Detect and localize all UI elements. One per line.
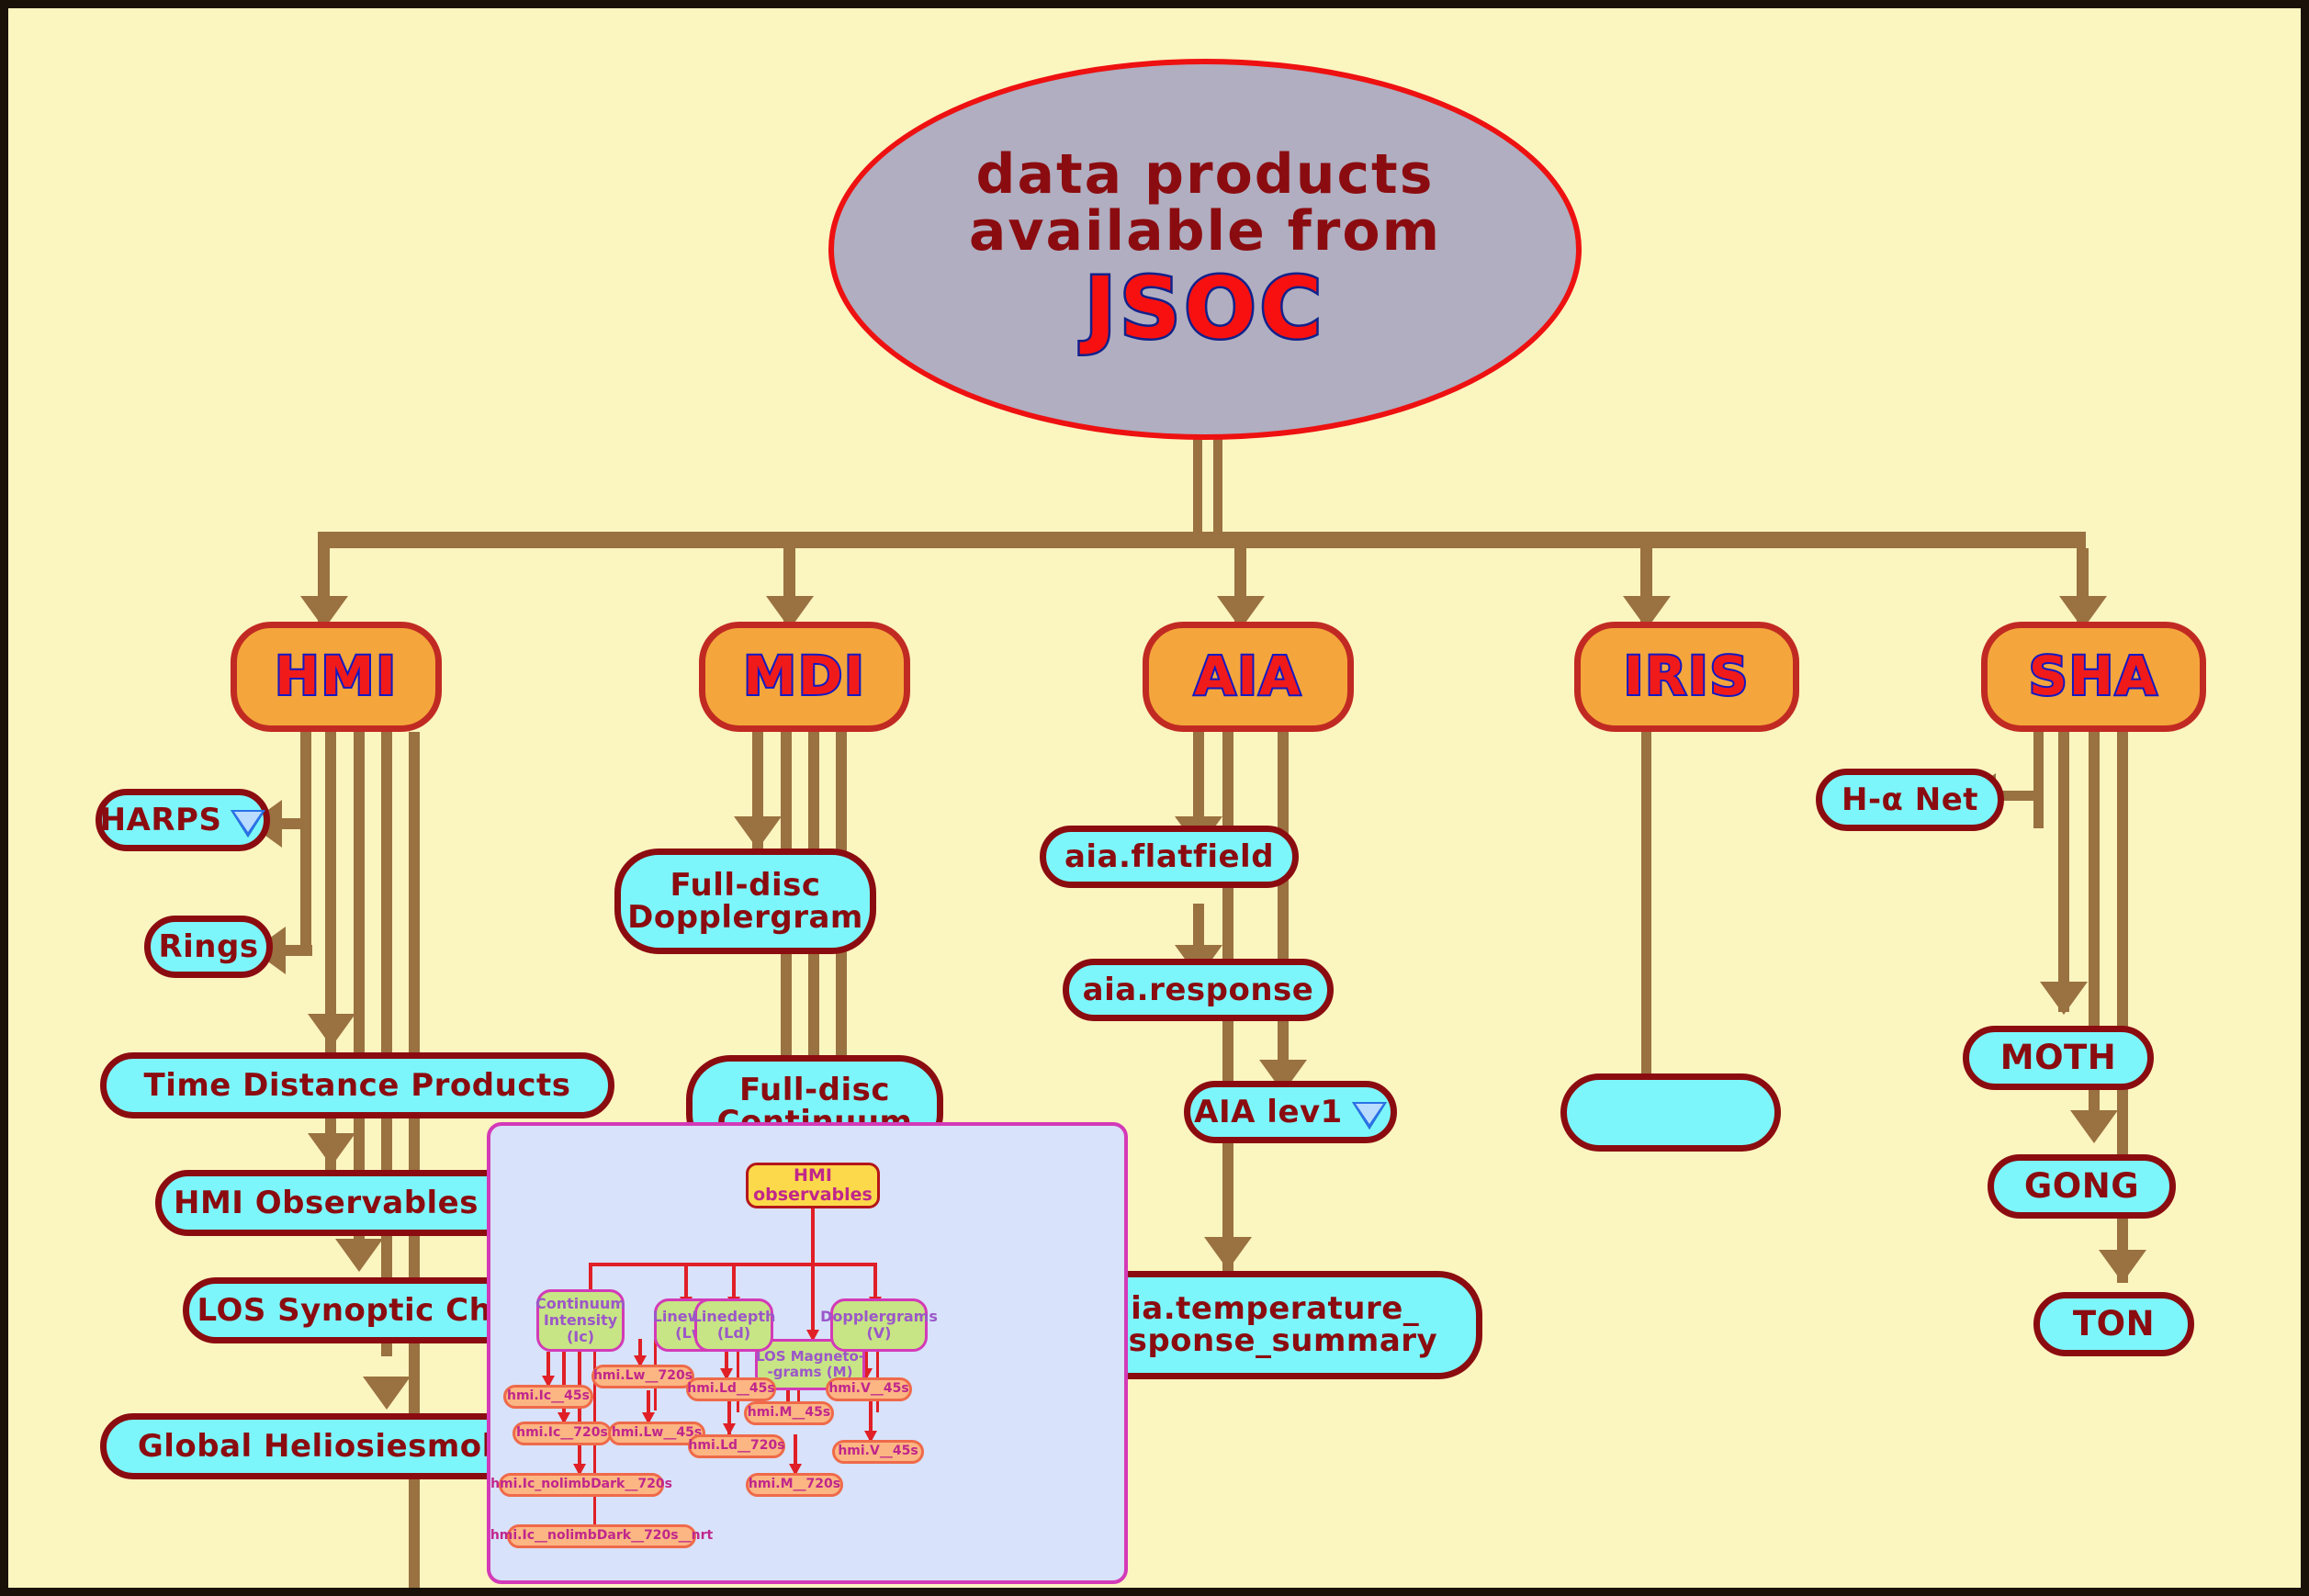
inset-series-v-45s[interactable]: hmi.V__45s [826, 1377, 912, 1401]
arrow-to-gong [2070, 1110, 2118, 1143]
inset-series-ld-45s-label: hmi.Ld__45s [687, 1382, 774, 1397]
product-aia-temperature-line2: response_summary [1091, 1325, 1437, 1357]
inset-group-v-line1: Dopplergrams [820, 1309, 938, 1325]
inset-series-ld-720s[interactable]: hmi.Ld__720s [688, 1434, 785, 1458]
root-node-jsoc[interactable]: data products available from JSOC [828, 59, 1582, 440]
root-line-1: data products [976, 147, 1435, 203]
inset-group-continuum-intensity[interactable]: Continuum Intensity (Ic) [536, 1289, 625, 1352]
product-fulldisc-dopplergram-line1: Full-disc [670, 870, 820, 902]
inset-root-stem [811, 1207, 815, 1265]
product-moth[interactable]: MOTH [1963, 1026, 2154, 1090]
product-time-distance-label: Time Distance Products [144, 1070, 571, 1102]
product-aia-response-label: aia.response [1083, 974, 1314, 1006]
product-ha-net[interactable]: H-α Net [1816, 769, 2004, 831]
instrument-iris[interactable]: IRIS [1574, 622, 1799, 732]
rail-sha-1 [2033, 732, 2044, 828]
inset-series-lw-720s[interactable]: hmi.Lw__720s [591, 1365, 694, 1388]
root-line-jsoc: JSOC [1085, 265, 1325, 352]
inset-root-hmi-observables[interactable]: HMI observables [746, 1163, 880, 1208]
inset-series-ic-nolimb-nrt-label: hmi.Ic__nolimbDark__720s__nrt [490, 1529, 713, 1544]
inset-group-ld-line2: (Ld) [717, 1325, 750, 1342]
product-aia-flatfield[interactable]: aia.flatfield [1040, 826, 1299, 888]
product-rings-label: Rings [158, 931, 258, 963]
product-rings[interactable]: Rings [144, 916, 273, 978]
inset-series-m-720s-label: hmi.M__720s [749, 1478, 840, 1492]
instrument-sha-label: SHA [2029, 649, 2158, 703]
inset-series-ic-nolimb-label: hmi.Ic_nolimbDark__720s [490, 1478, 672, 1492]
inset-series-ic-nolimbdark-720s[interactable]: hmi.Ic_nolimbDark__720s [499, 1473, 664, 1497]
arrow-to-time-distance [308, 1014, 355, 1047]
inset-series-lw-720s-label: hmi.Lw__720s [593, 1369, 693, 1384]
inset-series-m-720s[interactable]: hmi.M__720s [746, 1473, 843, 1497]
product-gong[interactable]: GONG [1988, 1154, 2176, 1219]
inset-series-ic-720s[interactable]: hmi.Ic__720s [512, 1422, 612, 1445]
product-ton-label: TON [2073, 1307, 2155, 1342]
inset-group-ic-line3: (Ic) [567, 1329, 594, 1345]
product-aia-lev1[interactable]: AIA lev1 [1184, 1081, 1397, 1143]
product-fulldisc-dopplergram[interactable]: Full-disc Dopplergram [614, 849, 876, 954]
product-ha-net-label: H-α Net [1842, 784, 1978, 816]
inset-root-line2: observables [753, 1186, 873, 1205]
inset-series-v-720s[interactable]: hmi.V__45s [832, 1440, 924, 1464]
rail-aia-3 [1278, 732, 1289, 1108]
product-harps[interactable]: HARPS [96, 789, 270, 851]
product-harps-label: HARPS [100, 804, 222, 837]
root-line-2: available from [969, 204, 1441, 260]
arrow-to-los-synoptic [335, 1239, 383, 1272]
inset-group-v-line2: (V) [866, 1325, 891, 1342]
product-iris-empty[interactable] [1560, 1073, 1781, 1152]
product-aia-flatfield-label: aia.flatfield [1064, 841, 1274, 873]
rail-aia-2 [1222, 732, 1233, 1320]
inset-series-ic-45s-label: hmi.Ic__45s [507, 1389, 590, 1404]
product-aia-lev1-label: AIA lev1 [1194, 1096, 1343, 1129]
hmi-observables-inset-panel[interactable]: s HMI observables Continuum Intensity (I… [487, 1122, 1128, 1584]
instrument-hmi[interactable]: HMI [231, 622, 442, 732]
arrow-to-ton [2099, 1250, 2146, 1283]
arrow-to-aia-temperature [1204, 1237, 1252, 1270]
product-moth-label: MOTH [2000, 1040, 2116, 1075]
inset-group-ld-line1: Linedepth [693, 1309, 776, 1325]
inset-group-linedepth[interactable]: Linedepth (Ld) [694, 1298, 773, 1352]
instrument-aia-label: AIA [1194, 649, 1301, 703]
instrument-mdi[interactable]: MDI [699, 622, 910, 732]
product-gong-label: GONG [2024, 1169, 2139, 1204]
product-fulldisc-continuum-line1: Full-disc [739, 1074, 890, 1107]
product-hmi-observables[interactable]: HMI Observables [155, 1170, 541, 1236]
instrument-sha[interactable]: SHA [1981, 622, 2206, 732]
inset-series-ld-720s-label: hmi.Ld__720s [688, 1439, 784, 1454]
inset-rail-ic-c [578, 1352, 581, 1475]
inset-series-v-45s-label: hmi.V__45s [828, 1382, 908, 1397]
product-time-distance[interactable]: Time Distance Products [100, 1052, 614, 1118]
instrument-mdi-label: MDI [743, 649, 865, 703]
product-hmi-observables-label: HMI Observables [174, 1187, 479, 1219]
inset-series-ic-nolimbdark-720s-nrt[interactable]: hmi.Ic__nolimbDark__720s__nrt [507, 1524, 696, 1548]
arrow-to-moth [2040, 982, 2088, 1015]
elbow-harps-v [300, 732, 311, 824]
arrow-to-hmi-observables [308, 1133, 355, 1166]
instrument-iris-label: IRIS [1624, 649, 1751, 703]
inset-group-dopplergrams[interactable]: Dopplergrams (V) [830, 1298, 928, 1352]
inset-group-ic-line2: Intensity [544, 1312, 617, 1329]
inset-series-ic-45s[interactable]: hmi.Ic__45s [503, 1385, 593, 1409]
inset-series-m-45s[interactable]: hmi.M__45s [744, 1401, 834, 1425]
inset-series-m-45s-label: hmi.M__45s [748, 1406, 830, 1421]
arrow-to-global-helio [363, 1377, 411, 1410]
chevron-down-icon[interactable] [1352, 1102, 1387, 1130]
diagram-canvas: data products available from JSOC HMI MD… [8, 8, 2301, 1588]
inset-series-v-720s-label: hmi.V__45s [838, 1444, 918, 1459]
inset-series-ic-720s-label: hmi.Ic__720s [516, 1426, 608, 1441]
product-fulldisc-dopplergram-line2: Dopplergram [627, 902, 863, 934]
inset-series-ld-45s[interactable]: hmi.Ld__45s [686, 1377, 776, 1401]
chevron-down-icon[interactable] [231, 810, 265, 837]
product-aia-response[interactable]: aia.response [1063, 959, 1334, 1021]
product-ton[interactable]: TON [2033, 1292, 2194, 1356]
rail-sha-3 [2058, 732, 2069, 1012]
connector-bus [318, 532, 2086, 548]
rail-iris [1641, 732, 1651, 1085]
instrument-hmi-label: HMI [275, 649, 398, 703]
inset-group-ic-line1: Continuum [535, 1296, 625, 1312]
arrow-to-fulldisc-dopplergram [734, 816, 782, 849]
elbow-rings-v [300, 824, 311, 950]
instrument-aia[interactable]: AIA [1143, 622, 1354, 732]
product-aia-temperature-line1: aia.temperature_ [1109, 1293, 1420, 1325]
inset-bus [589, 1263, 873, 1266]
inset-root-line1: HMI [794, 1166, 832, 1186]
